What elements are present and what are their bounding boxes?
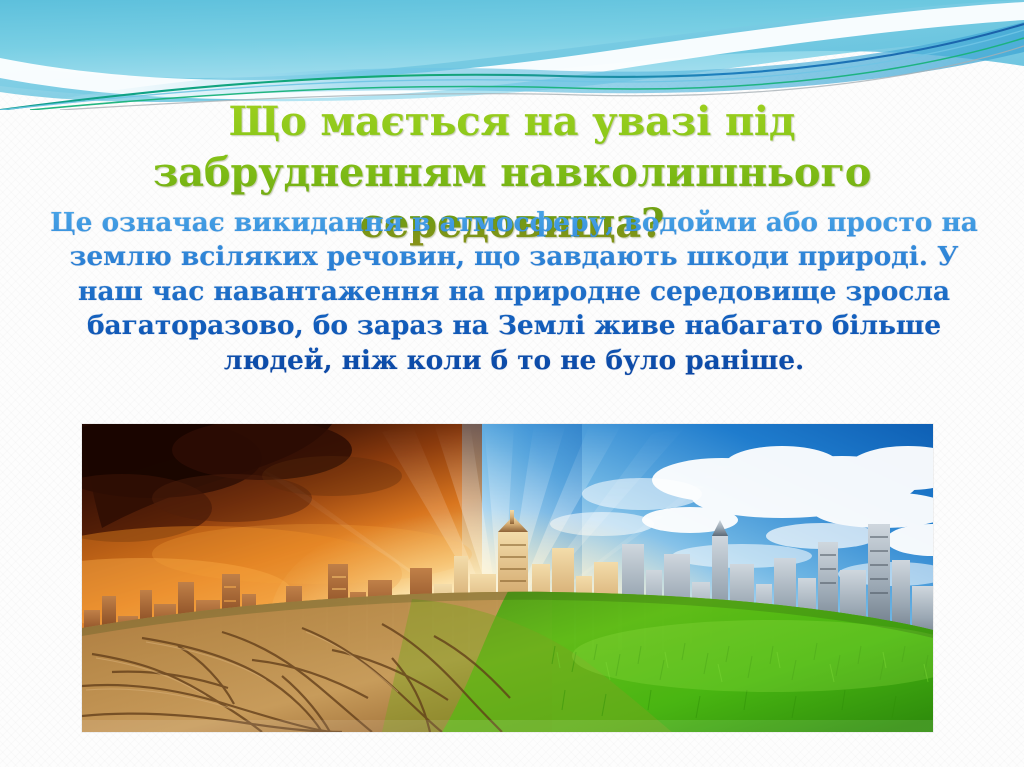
- environment-split-city-photo: [82, 424, 933, 732]
- slide-body-text: Це означає викидання в атмосферу, водойм…: [44, 206, 984, 378]
- slide-body: Це означає викидання в атмосферу, водойм…: [44, 206, 984, 378]
- waveform-header-graphic: [0, 0, 1024, 110]
- presentation-slide: Що мається на увазі під забрудненням нав…: [0, 0, 1024, 767]
